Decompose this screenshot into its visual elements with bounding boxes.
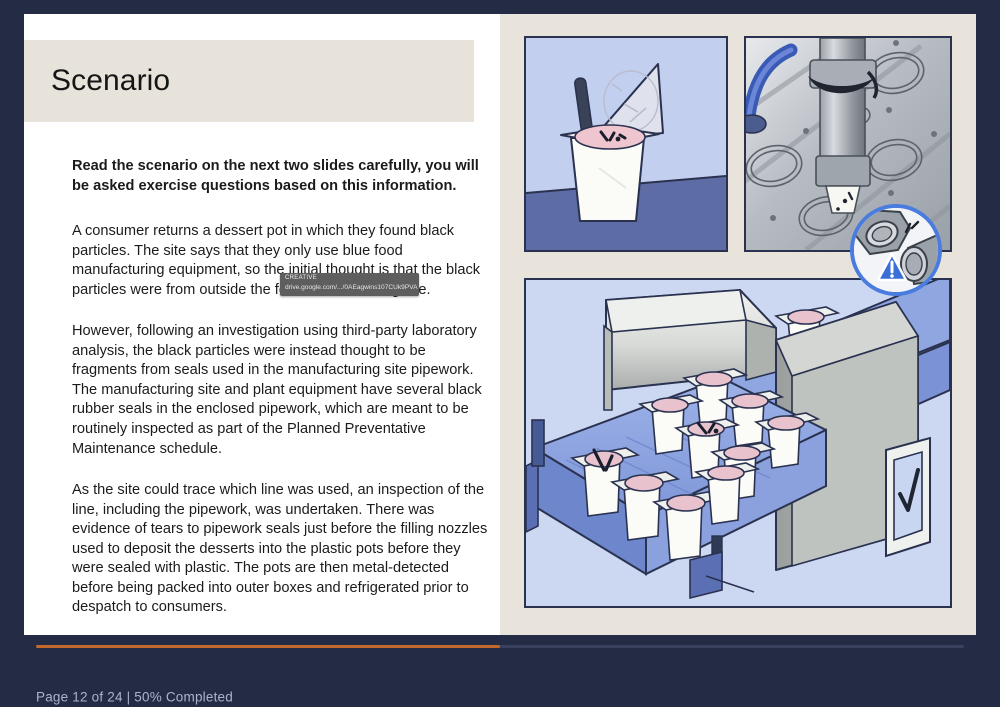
tooltip-title: CREATIVE (285, 274, 415, 283)
slide-title-band: Scenario (24, 40, 474, 122)
link-preview-tooltip: CREATIVE drive.google.com/.../0AEagwins1… (280, 273, 419, 296)
slide-body-copy: Read the scenario on the next two slides… (72, 157, 490, 635)
paragraph-lead: Read the scenario on the next two slides… (72, 157, 490, 196)
course-player: Scenario Read the scenario on the next t… (0, 0, 1000, 707)
progress-bar-track (36, 645, 964, 648)
magnified-seal-callout (848, 202, 944, 298)
page-status-text: Page 12 of 24 | 50% Completed (36, 690, 233, 705)
page-title: Scenario (51, 64, 170, 98)
slide-text-column: Scenario Read the scenario on the next t… (24, 14, 500, 635)
paragraph-3: As the site could trace which line was u… (72, 481, 490, 618)
tooltip-url: drive.google.com/.../0AEagwins107CUk9PVA (285, 283, 415, 293)
player-footer: Page 12 of 24 | 50% Completed ‹ Prev Nex… (0, 635, 1000, 707)
production-line-illustration (524, 278, 952, 608)
dessert-pot-illustration (524, 36, 728, 252)
slide-panel: Scenario Read the scenario on the next t… (24, 14, 976, 635)
progress-bar-fill (36, 645, 500, 648)
paragraph-2: However, following an investigation usin… (72, 322, 490, 459)
slide-illustration-column (500, 14, 976, 635)
